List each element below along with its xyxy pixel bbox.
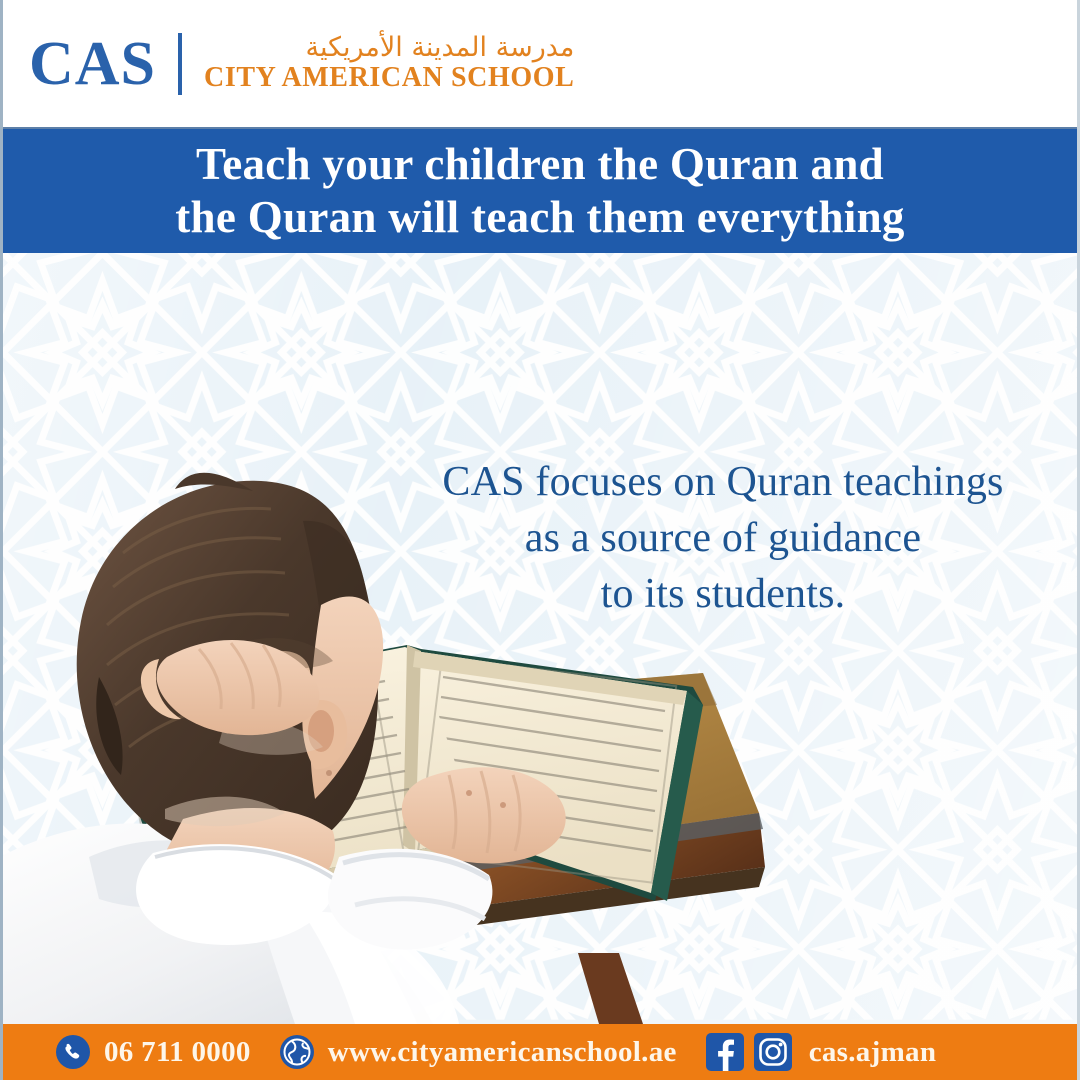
- facebook-icon[interactable]: [705, 1032, 745, 1072]
- instagram-icon[interactable]: [753, 1032, 793, 1072]
- social-handle: cas.ajman: [809, 1036, 937, 1069]
- student-reading-photo: [3, 253, 863, 1024]
- website-url: www.cityamericanschool.ae: [328, 1036, 677, 1069]
- body-copy-line-1: CAS focuses on Quran teachings: [393, 455, 1053, 511]
- headline-line-2: the Quran will teach them everything: [175, 191, 904, 244]
- logo-wordmark: مدرسة المدينة الأمريكية CITY AMERICAN SC…: [204, 33, 574, 94]
- body-copy: CAS focuses on Quran teachings as a sour…: [393, 455, 1053, 623]
- contact-footer: 06 711 0000 www.cityamericanschool.ae: [3, 1024, 1077, 1080]
- logo-divider: [178, 33, 182, 95]
- social-links: cas.ajman: [705, 1032, 937, 1072]
- logo-abbreviation: CAS: [29, 33, 178, 95]
- phone-icon: [55, 1034, 91, 1070]
- logo-name-arabic: مدرسة المدينة الأمريكية: [204, 33, 574, 63]
- website-contact[interactable]: www.cityamericanschool.ae: [279, 1034, 677, 1070]
- school-logo[interactable]: CAS مدرسة المدينة الأمريكية CITY AMERICA…: [29, 33, 574, 95]
- header: CAS مدرسة المدينة الأمريكية CITY AMERICA…: [3, 0, 1077, 127]
- phone-contact[interactable]: 06 711 0000: [55, 1034, 251, 1070]
- headline-banner: Teach your children the Quran and the Qu…: [3, 127, 1077, 253]
- phone-number: 06 711 0000: [104, 1036, 251, 1069]
- globe-icon: [279, 1034, 315, 1070]
- body-copy-line-3: to its students.: [393, 567, 1053, 623]
- body-copy-line-2: as a source of guidance: [393, 511, 1053, 567]
- headline-line-1: Teach your children the Quran and: [196, 138, 884, 191]
- poster: CAS مدرسة المدينة الأمريكية CITY AMERICA…: [0, 0, 1080, 1080]
- logo-name-english: CITY AMERICAN SCHOOL: [204, 63, 574, 94]
